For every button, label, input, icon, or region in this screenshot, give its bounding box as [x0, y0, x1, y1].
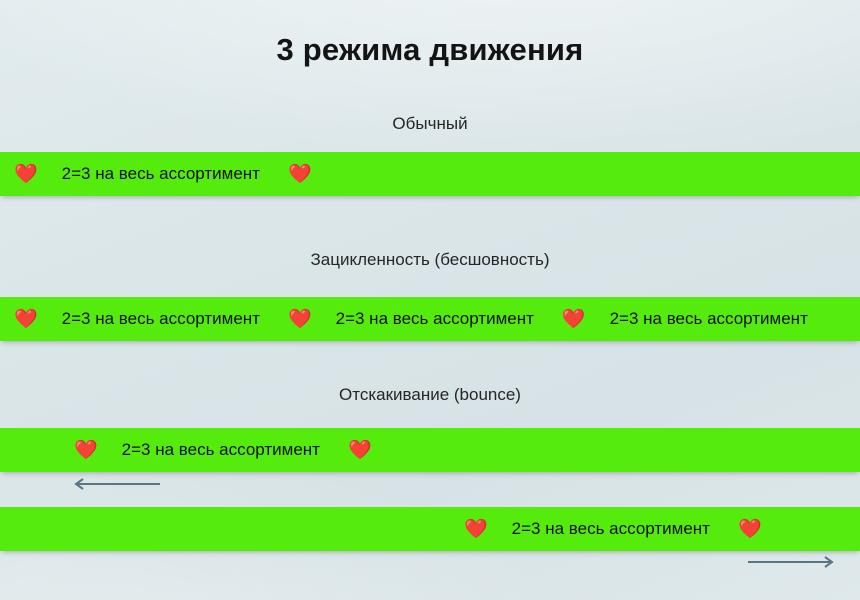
ticker-text: 2=3 на весь ассортимент [122, 440, 320, 460]
banner-bounce-left: ❤️ 2=3 на весь ассортимент ❤️ [0, 428, 860, 472]
ticker-text: 2=3 на весь ассортимент [336, 309, 534, 329]
page-title: 3 режима движения [0, 32, 860, 68]
banner-bounce-left-track: ❤️ 2=3 на весь ассортимент ❤️ [60, 428, 386, 472]
arrow-right-icon [748, 555, 838, 569]
mode-label-looping: Зацикленность (бесшовность) [0, 250, 860, 270]
ticker-item: ❤️ 2=3 на весь ассортимент [548, 309, 822, 329]
mode-label-bounce: Отскакивание (bounce) [0, 385, 860, 405]
heart-icon: ❤️ [738, 520, 762, 539]
banner-bounce-right: ❤️ 2=3 на весь ассортимент ❤️ [0, 507, 860, 551]
heart-icon: ❤️ [464, 520, 488, 539]
heart-icon: ❤️ [14, 310, 38, 329]
ticker-item: ❤️ 2=3 на весь ассортимент [0, 309, 274, 329]
banner-normal-track: ❤️ 2=3 на весь ассортимент ❤️ [0, 152, 326, 196]
ticker-text: 2=3 на весь ассортимент [62, 164, 260, 184]
heart-icon: ❤️ [288, 165, 312, 184]
banner-bounce-right-track: ❤️ 2=3 на весь ассортимент ❤️ [450, 507, 776, 551]
heart-icon: ❤️ [348, 441, 372, 460]
ticker-item: ❤️ 2=3 на весь ассортимент ❤️ [0, 164, 326, 184]
heart-icon: ❤️ [562, 310, 586, 329]
heart-icon: ❤️ [74, 441, 98, 460]
ticker-item: ❤️ 2=3 на весь ассортимент [274, 309, 548, 329]
arrow-left-icon [70, 477, 160, 491]
ticker-text: 2=3 на весь ассортимент [512, 519, 710, 539]
ticker-item: ❤️ 2=3 на весь ассортимент ❤️ [60, 440, 386, 460]
heart-icon: ❤️ [14, 165, 38, 184]
heart-icon: ❤️ [288, 310, 312, 329]
mode-label-normal: Обычный [0, 114, 860, 134]
ticker-text: 2=3 на весь ассортимент [62, 309, 260, 329]
ticker-item: ❤️ 2=3 на весь ассортимент ❤️ [450, 519, 776, 539]
banner-looping: ❤️ 2=3 на весь ассортимент ❤️ 2=3 на вес… [0, 297, 860, 341]
ticker-text: 2=3 на весь ассортимент [610, 309, 808, 329]
banner-normal: ❤️ 2=3 на весь ассортимент ❤️ [0, 152, 860, 196]
banner-looping-track: ❤️ 2=3 на весь ассортимент ❤️ 2=3 на вес… [0, 297, 822, 341]
